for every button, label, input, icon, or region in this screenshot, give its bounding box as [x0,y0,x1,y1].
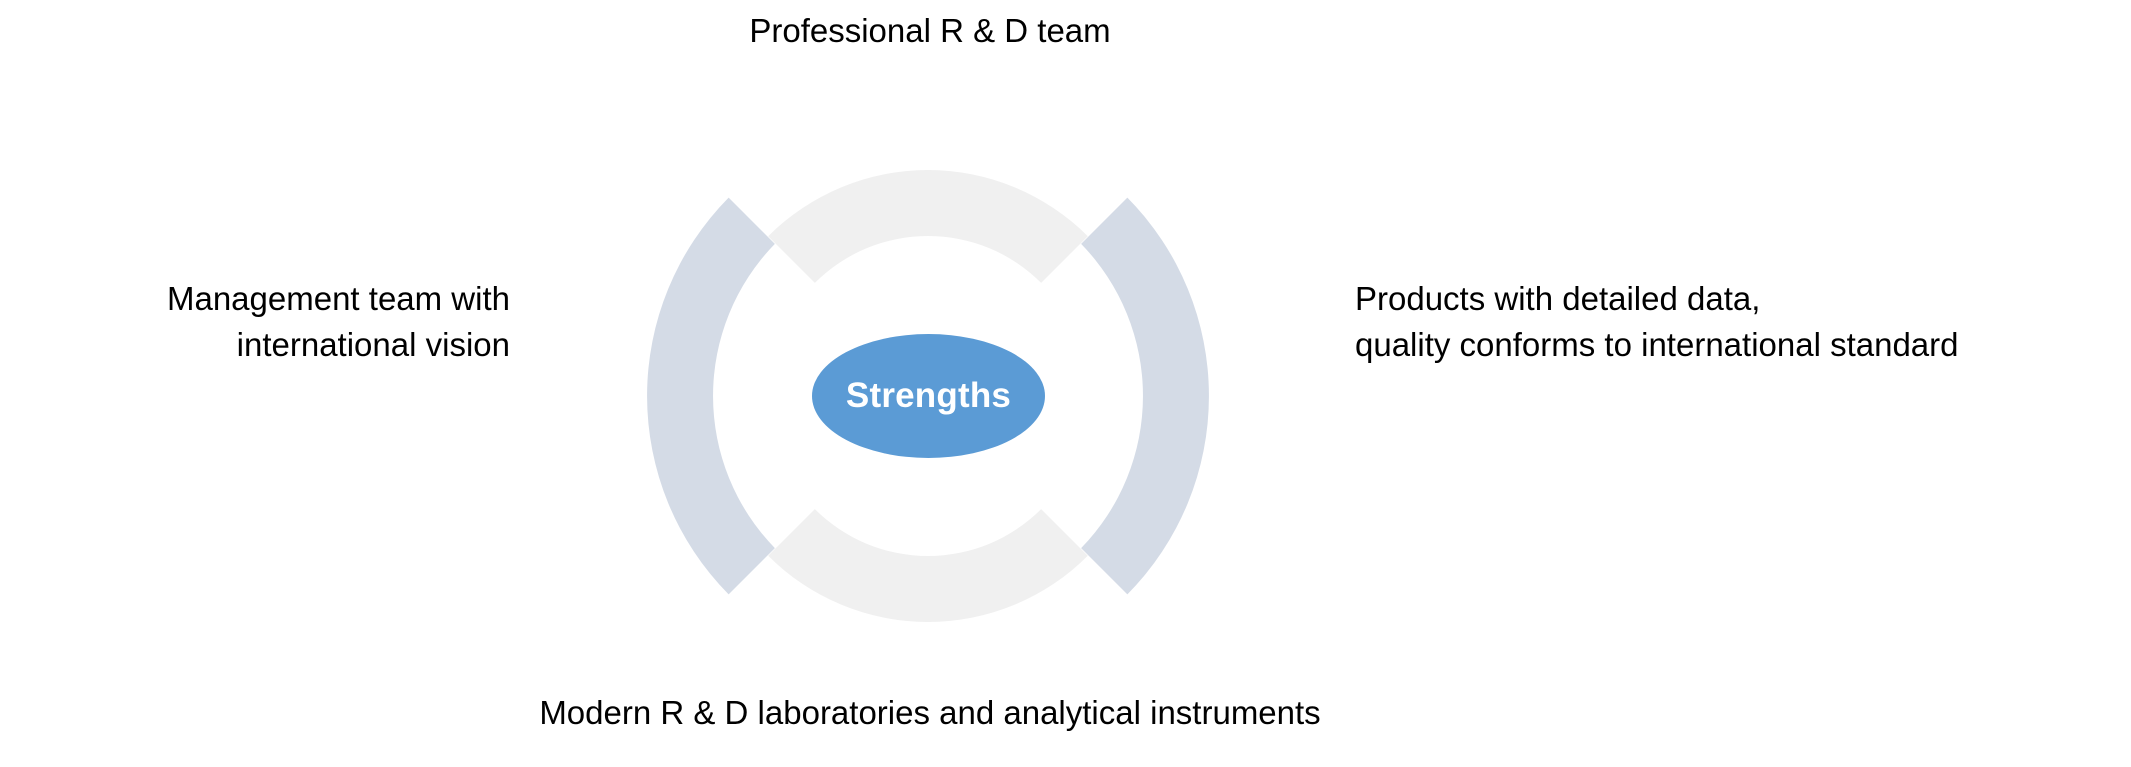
diagram-canvas: Strengths Professional R & D team Manage… [0,0,2131,767]
segment-arc-top[interactable] [768,170,1088,283]
segment-arc-right[interactable] [1081,198,1209,595]
callout-label-right: Products with detailed data, quality con… [1355,276,2130,368]
segment-arc-left[interactable] [647,198,775,595]
radial-diagram-graphic [0,0,2131,767]
center-ellipse[interactable] [812,334,1045,458]
segment-arc-bottom[interactable] [768,509,1088,622]
callout-label-left: Management team with international visio… [10,276,510,368]
callout-label-bottom: Modern R & D laboratories and analytical… [300,690,1560,736]
callout-label-top: Professional R & D team [300,8,1560,54]
